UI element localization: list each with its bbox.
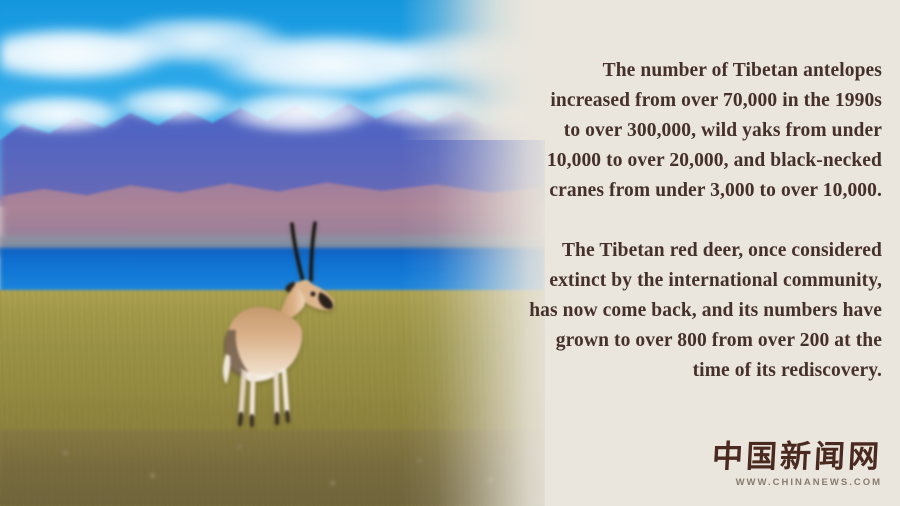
antelope-horns	[292, 223, 315, 281]
text-line: The Tibetan red deer, once considered	[470, 236, 882, 266]
logo-website-url: WWW.CHINANEWS.COM	[712, 477, 882, 488]
text-line: The number of Tibetan antelopes	[470, 56, 882, 86]
text-line: to over 300,000, wild yaks from under	[470, 116, 882, 146]
tibetan-antelope-illustration	[208, 218, 358, 433]
text-line: 10,000 to over 20,000, and black-necked	[470, 146, 882, 176]
paragraph-red-deer: The Tibetan red deer, once considered ex…	[470, 236, 882, 386]
logo-wordmark-cn: 中国新闻网	[711, 441, 883, 474]
text-line: increased from over 70,000 in the 1990s	[470, 86, 882, 116]
gravel-foreground-layer	[0, 430, 545, 506]
text-line: cranes from under 3,000 to over 10,000.	[470, 176, 882, 206]
text-line: grown to over 800 from over 200 at the	[470, 326, 882, 356]
chinanews-logo[interactable]: 中国新闻网 WWW.CHINANEWS.COM	[712, 441, 882, 488]
paragraph-population-growth: The number of Tibetan antelopes increase…	[470, 56, 882, 206]
text-line: extinct by the international community,	[470, 266, 882, 296]
text-line: has now come back, and its numbers have	[470, 296, 882, 326]
scene-photo	[0, 0, 545, 506]
antelope-tail	[223, 354, 230, 384]
infographic-canvas: The number of Tibetan antelopes increase…	[0, 0, 900, 506]
snow-cap-layer	[0, 74, 545, 152]
text-panel: The number of Tibetan antelopes increase…	[470, 56, 882, 386]
text-line: time of its rediscovery.	[470, 356, 882, 386]
